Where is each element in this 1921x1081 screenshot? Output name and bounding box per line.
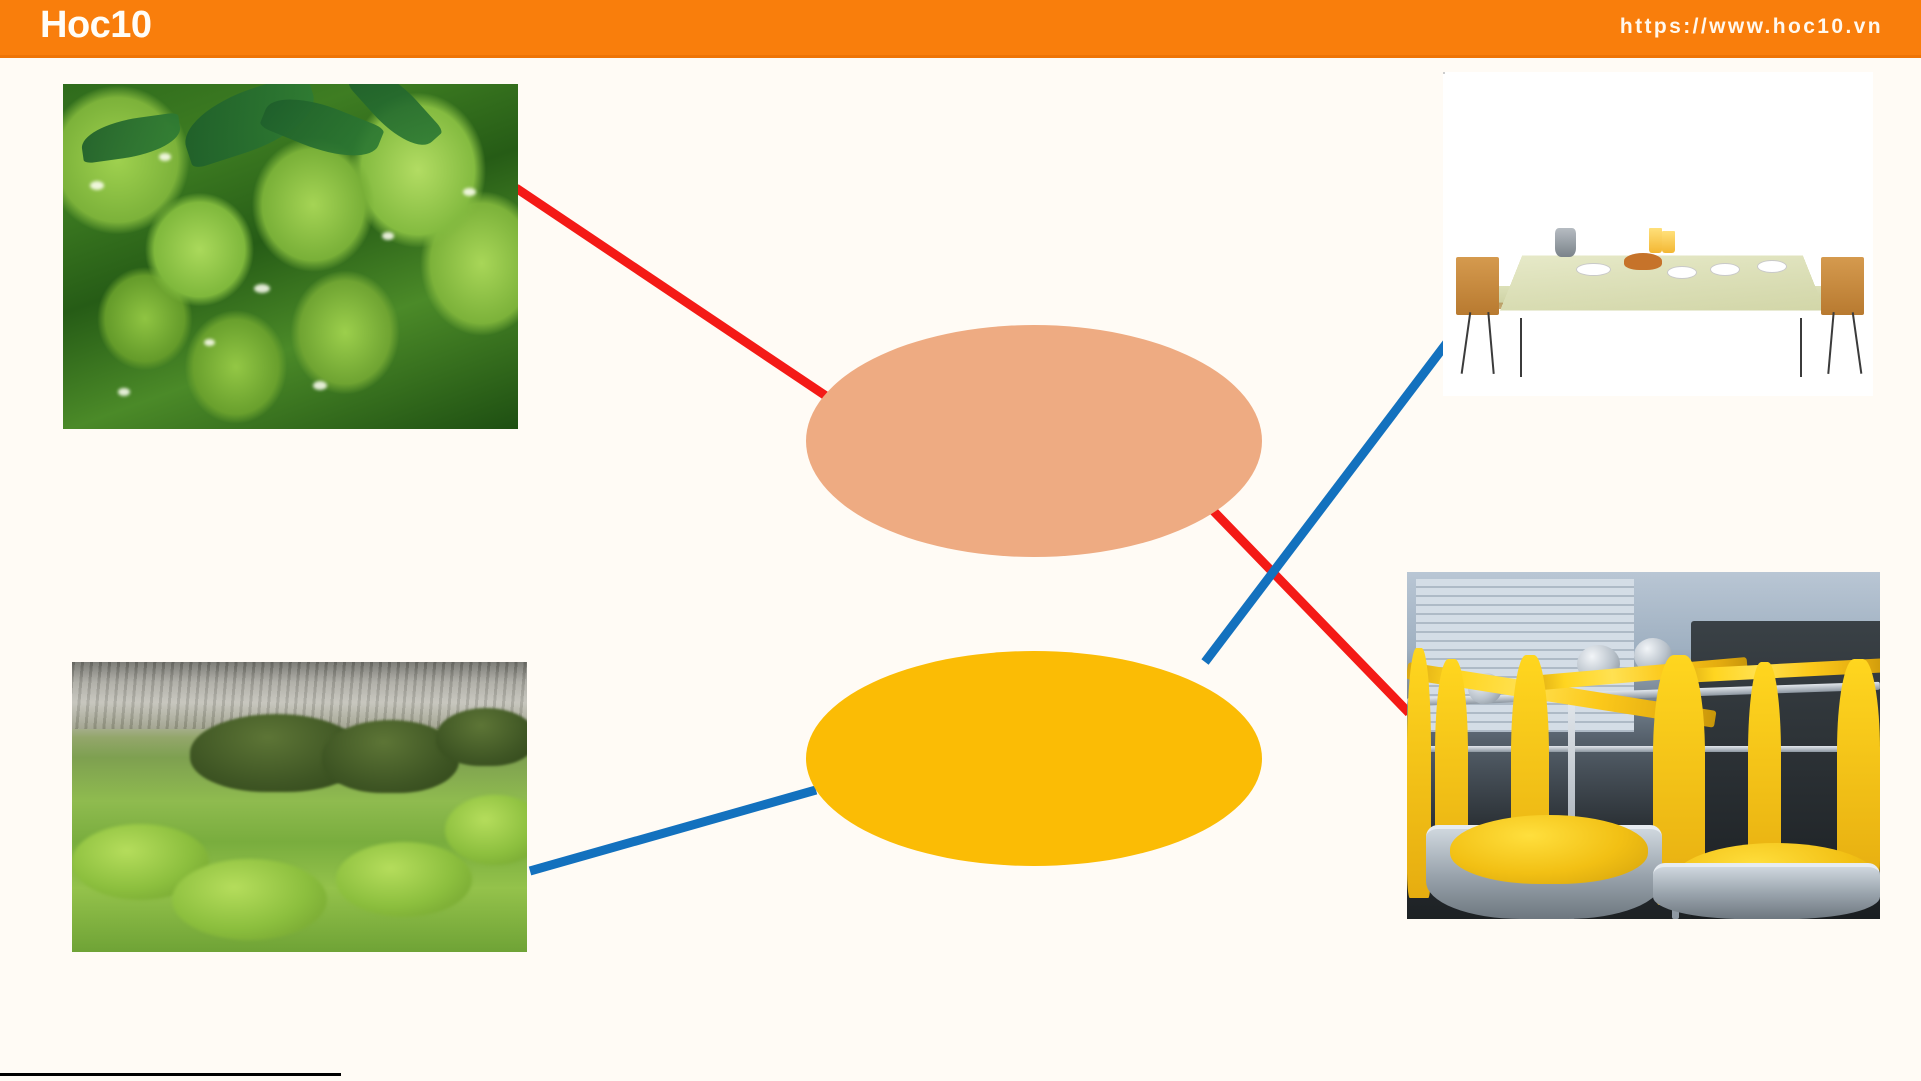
- image-textile-dyeing-factory[interactable]: [1407, 572, 1880, 919]
- table-leg: [1800, 318, 1802, 376]
- answer-ellipse-top[interactable]: [806, 325, 1262, 557]
- bench-left: [1456, 257, 1499, 315]
- plate: [1757, 260, 1787, 273]
- connector-red-top-ellipse-to-factory: [1197, 494, 1409, 713]
- grass-patch: [172, 859, 327, 940]
- plate: [1576, 263, 1610, 276]
- plate: [1710, 263, 1740, 276]
- answer-ellipse-bottom[interactable]: [806, 651, 1262, 866]
- light-fleck: [463, 188, 476, 196]
- juice-glass: [1649, 228, 1662, 254]
- light-fleck: [90, 181, 104, 190]
- bench-leg: [1488, 312, 1495, 373]
- coffee-pot: [1555, 228, 1577, 257]
- bench-leg: [1827, 312, 1834, 373]
- site-url-label[interactable]: https://www.hoc10.vn: [1620, 15, 1883, 39]
- juice-glass: [1662, 231, 1675, 254]
- image-family-dinner[interactable]: [1443, 72, 1873, 396]
- bench-leg: [1852, 312, 1863, 373]
- image-mango-tree[interactable]: [63, 84, 518, 429]
- bench-leg: [1460, 312, 1471, 373]
- connector-red-mango-to-top-ellipse: [516, 188, 832, 400]
- bench-right: [1821, 257, 1864, 315]
- bush-clump: [436, 708, 527, 766]
- bread-rolls: [1624, 253, 1663, 269]
- light-fleck: [118, 388, 130, 396]
- light-fleck: [313, 381, 327, 390]
- connector-blue-grass-to-bottom-ellipse: [530, 790, 816, 871]
- page-header: Hoc10 https://www.hoc10.vn: [0, 0, 1921, 58]
- fabric-pile: [1450, 815, 1649, 884]
- slide-canvas: Hoc10 https://www.hoc10.vn: [0, 0, 1921, 1081]
- light-fleck: [159, 153, 171, 161]
- light-fleck: [382, 232, 394, 240]
- hoc10-logo[interactable]: Hoc10: [40, 4, 152, 47]
- image-grass-field[interactable]: [72, 662, 527, 952]
- grass-patch: [336, 842, 473, 917]
- collection-tub: [1653, 863, 1880, 919]
- table-leg: [1520, 318, 1522, 376]
- bottom-divider-line: [0, 1073, 341, 1076]
- support-rail: [1407, 746, 1880, 752]
